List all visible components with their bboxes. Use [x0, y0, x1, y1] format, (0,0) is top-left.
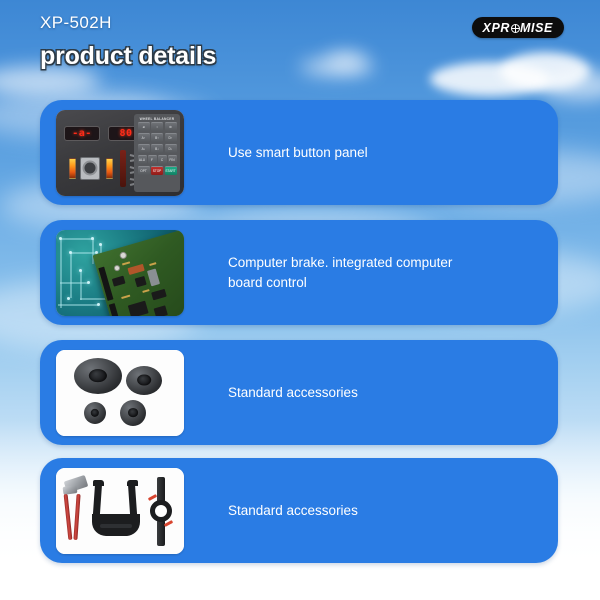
feature-card-label: Standard accessories: [228, 501, 358, 521]
feature-card-label: Computer brake. integrated computer boar…: [228, 253, 488, 293]
wheel-icon: [80, 157, 100, 180]
key-f[interactable]: F: [148, 155, 157, 164]
key-a-up[interactable]: A↑: [138, 133, 150, 142]
key-alu[interactable]: ALU: [138, 155, 147, 164]
hub-tool-shaft-top: [157, 477, 165, 503]
keypad-row-2: A↑ B↑ D↑: [136, 133, 178, 142]
weight-pliers-jaw: [63, 485, 78, 495]
wheel-guard-left-tip: [93, 480, 104, 486]
feature-card[interactable]: -a- 80 WHEEL BALANCE: [40, 100, 558, 205]
cone-adapter-small-2: [120, 400, 146, 426]
pcb-board: [93, 230, 184, 316]
key-b-down[interactable]: B↓: [151, 144, 163, 153]
stop-button[interactable]: STOP: [151, 166, 163, 175]
control-panel-face: -a- 80 WHEEL BALANCE: [56, 110, 184, 196]
key-settings-icon[interactable]: ⚙: [165, 122, 177, 131]
keypad-row-4: ALU F C FIN: [136, 155, 178, 164]
position-indicator-right: [106, 158, 113, 179]
cone-adapter-medium: [126, 366, 162, 395]
feature-card-label: Standard accessories: [228, 383, 358, 403]
circuit-board-photo: [56, 230, 184, 316]
led-display-left: -a-: [64, 126, 100, 141]
wheel-guard-right-tip: [127, 480, 138, 486]
key-b-up[interactable]: B↑: [151, 133, 163, 142]
feature-card[interactable]: Computer brake. integrated computer boar…: [40, 220, 558, 325]
feature-card[interactable]: Standard accessories: [40, 458, 558, 563]
start-button[interactable]: START: [165, 166, 177, 175]
photo-backdrop: [56, 350, 184, 436]
product-details-page: XP-502H product details XPR MISE -a- 80: [0, 0, 600, 600]
control-panel-photo: -a- 80 WHEEL BALANCE: [56, 110, 184, 196]
keypad-row-5: OPT STOP START: [136, 166, 178, 175]
panel-slot: [120, 150, 126, 187]
cone-adapter-small: [84, 402, 106, 424]
cone-adapters-photo: [56, 350, 184, 436]
feature-card-label: Use smart button panel: [228, 143, 368, 163]
key-d-down[interactable]: D↓: [165, 144, 177, 153]
key-width-icon[interactable]: ↕: [151, 122, 163, 131]
keypad-title: WHEEL BALANCER: [136, 117, 178, 121]
keypad-row-1: ◄ ↕ ⚙: [136, 122, 178, 131]
cone-adapter-large: [74, 358, 122, 394]
balancing-tools-photo: [56, 468, 184, 554]
feature-card-list: -a- 80 WHEEL BALANCE: [0, 0, 600, 600]
key-opt[interactable]: OPT: [138, 166, 150, 175]
key-c[interactable]: C: [158, 155, 167, 164]
key-fin[interactable]: FIN: [168, 155, 177, 164]
wheel-guard-crossbar: [100, 524, 132, 528]
keypad[interactable]: WHEEL BALANCER ◄ ↕ ⚙ A↑ B↑ D↑ A↓: [134, 114, 180, 192]
keypad-row-3: A↓ B↓ D↓: [136, 144, 178, 153]
position-indicator-left: [69, 158, 76, 179]
feature-card[interactable]: Standard accessories: [40, 340, 558, 445]
key-a-down[interactable]: A↓: [138, 144, 150, 153]
hub-tool-ring: [150, 500, 172, 522]
key-mode-icon[interactable]: ◄: [138, 122, 150, 131]
pcb-background: [56, 230, 184, 316]
key-d-up[interactable]: D↑: [165, 133, 177, 142]
